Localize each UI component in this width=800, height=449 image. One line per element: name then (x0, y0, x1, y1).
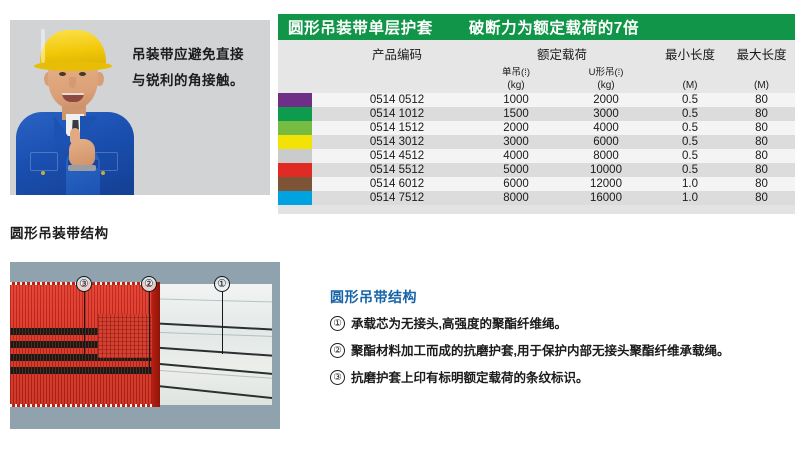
table-header-row-main: 产品编码 额定载荷 最小长度 最大长度 (278, 43, 795, 63)
table-banner: 圆形吊装带单层护套 破断力为额定载荷的7倍 (278, 14, 795, 40)
header-unit-max-m: (M) (728, 80, 795, 91)
cell-min-length: 1.0 (652, 192, 728, 204)
table-row: 0514 1512200040000.580 (278, 121, 795, 135)
cell-product-code: 0514 6012 (322, 178, 472, 190)
pocket-left-shape (30, 152, 58, 171)
cell-min-length: 0.5 (652, 108, 728, 120)
callout-marker-2: ② (141, 276, 157, 292)
eye-right-shape (79, 72, 86, 76)
hard-hat-shape (40, 30, 106, 68)
table-row: 0514 75128000160001.080 (278, 191, 795, 205)
cell-u-sling-load: 12000 (560, 178, 652, 190)
cell-single-sling-load: 8000 (472, 192, 560, 204)
sling-structure-photo: ③ ② ① (10, 262, 280, 429)
button-right-shape (101, 171, 105, 175)
description-item-text: 聚酯材料加工而成的抗磨护套,用于保护内部无接头聚酯纤维承载绳。 (351, 343, 729, 360)
table-header: 产品编码 额定载荷 最小长度 最大长度 单吊(⁞) U形吊(⁞) (kg) (k… (278, 40, 795, 93)
cell-u-sling-load: 4000 (560, 122, 652, 134)
row-swatch-cell (278, 121, 322, 135)
sleeve-hem-bottom-shape (10, 404, 160, 407)
callout-marker-3: ③ (76, 276, 92, 292)
row-swatch-cell (278, 149, 322, 163)
table-header-row-units: (kg) (kg) (M) (M) (278, 78, 795, 93)
header-single-sling: 单吊(⁞) (472, 64, 560, 78)
color-swatch (278, 177, 312, 191)
cell-min-length: 0.5 (652, 150, 728, 162)
row-swatch-cell (278, 191, 322, 205)
description-item-text: 抗磨护套上印有标明额定载荷的条纹标识。 (351, 370, 589, 387)
cell-single-sling-load: 6000 (472, 178, 560, 190)
cell-min-length: 0.5 (652, 164, 728, 176)
description-title: 圆形吊带结构 (330, 287, 795, 307)
description-item-number: ③ (330, 370, 345, 385)
cell-u-sling-load: 10000 (560, 164, 652, 176)
photo-caption-line-2: 与锐利的角接触。 (132, 68, 264, 94)
worker-photo-panel: 吊装带应避免直接 与锐利的角接触。 (10, 20, 270, 195)
header-min-length: 最小长度 (652, 44, 728, 63)
header-rated-load: 额定载荷 (472, 44, 652, 63)
cell-product-code: 0514 5512 (322, 164, 472, 176)
callout-2-label: ② (141, 276, 157, 292)
description-item: ②聚酯材料加工而成的抗磨护套,用于保护内部无接头聚酯纤维承载绳。 (330, 343, 795, 360)
cell-product-code: 0514 3012 (322, 136, 472, 148)
table-row: 0514 3012300060000.580 (278, 135, 795, 149)
row-swatch-cell (278, 135, 322, 149)
cell-max-length: 80 (728, 192, 795, 204)
cell-max-length: 80 (728, 136, 795, 148)
table-banner-left: 圆形吊装带单层护套 (288, 16, 433, 38)
table-row: 0514 4512400080000.580 (278, 149, 795, 163)
cell-max-length: 80 (728, 178, 795, 190)
cell-product-code: 0514 4512 (322, 150, 472, 162)
cell-min-length: 1.0 (652, 178, 728, 190)
color-swatch (278, 121, 312, 135)
color-swatch (278, 135, 312, 149)
fiber-soft-1 (160, 298, 272, 303)
cell-max-length: 80 (728, 122, 795, 134)
row-swatch-cell (278, 163, 322, 177)
cell-max-length: 80 (728, 164, 795, 176)
row-swatch-cell (278, 177, 322, 191)
cell-product-code: 0514 7512 (322, 192, 472, 204)
color-swatch (278, 93, 312, 107)
nose-shape (69, 77, 76, 88)
fiber-line-1 (160, 322, 272, 331)
cell-single-sling-load: 1500 (472, 108, 560, 120)
fiber-soft-2 (160, 332, 272, 338)
table-row: 0514 60126000120001.080 (278, 177, 795, 191)
cell-product-code: 0514 1512 (322, 122, 472, 134)
callout-marker-1: ① (214, 276, 230, 292)
callout-3-leader-line (84, 292, 85, 360)
cell-product-code: 0514 1012 (322, 108, 472, 120)
cell-u-sling-load: 8000 (560, 150, 652, 162)
description-list: ①承载芯为无接头,高强度的聚酯纤维绳。②聚酯材料加工而成的抗磨护套,用于保护内部… (330, 316, 795, 387)
cell-min-length: 0.5 (652, 94, 728, 106)
cell-min-length: 0.5 (652, 136, 728, 148)
header-u-sling: U形吊(⁞) (560, 64, 652, 78)
button-left-shape (41, 171, 45, 175)
cell-single-sling-load: 5000 (472, 164, 560, 176)
cell-u-sling-load: 3000 (560, 108, 652, 120)
row-swatch-cell (278, 93, 322, 107)
color-swatch (278, 191, 312, 205)
cell-u-sling-load: 6000 (560, 136, 652, 148)
fiber-line-4 (160, 384, 272, 400)
spec-table: 圆形吊装带单层护套 破断力为额定载荷的7倍 产品编码 额定载荷 最小长度 最大长… (278, 14, 795, 214)
cell-single-sling-load: 3000 (472, 136, 560, 148)
section-heading: 圆形吊装带结构 (10, 222, 109, 242)
color-swatch (278, 163, 312, 177)
cell-max-length: 80 (728, 108, 795, 120)
thumb-up-shape (70, 128, 80, 145)
color-swatch (278, 107, 312, 121)
cell-single-sling-load: 1000 (472, 94, 560, 106)
table-row: 0514 0512100020000.580 (278, 93, 795, 107)
cell-min-length: 0.5 (652, 122, 728, 134)
header-unit-min-m: (M) (652, 80, 728, 91)
table-header-row-sub: 单吊(⁞) U形吊(⁞) (278, 63, 795, 78)
cell-max-length: 80 (728, 94, 795, 106)
eye-left-shape (59, 72, 66, 76)
fiber-line-2 (160, 346, 272, 357)
description-item-text: 承载芯为无接头,高强度的聚酯纤维绳。 (351, 316, 567, 333)
description-item: ③抗磨护套上印有标明额定载荷的条纹标识。 (330, 370, 795, 387)
table-banner-right: 破断力为额定载荷的7倍 (469, 16, 639, 38)
table-row: 0514 1012150030000.580 (278, 107, 795, 121)
header-max-length: 最大长度 (728, 44, 795, 63)
callout-3-label: ③ (76, 276, 92, 292)
load-stripe-4 (10, 367, 160, 374)
photo-caption-line-1: 吊装带应避免直接 (132, 42, 264, 68)
header-product-code: 产品编码 (322, 44, 472, 63)
callout-2-leader-line (149, 292, 150, 370)
cell-single-sling-load: 4000 (472, 150, 560, 162)
sleeve-edge-shape (152, 282, 160, 407)
callout-1-label: ① (214, 276, 230, 292)
structure-description: 圆形吊带结构 ①承载芯为无接头,高强度的聚酯纤维绳。②聚酯材料加工而成的抗磨护套… (330, 287, 795, 397)
polyester-core-fibers (160, 284, 272, 405)
description-item-number: ① (330, 316, 345, 331)
callout-1-leader-line (222, 292, 223, 354)
cell-u-sling-load: 2000 (560, 94, 652, 106)
cell-max-length: 80 (728, 150, 795, 162)
header-unit-u-kg: (kg) (560, 80, 652, 91)
row-swatch-cell (278, 107, 322, 121)
photo-caption: 吊装带应避免直接 与锐利的角接触。 (132, 42, 264, 94)
table-body: 0514 0512100020000.5800514 1012150030000… (278, 93, 795, 205)
table-footer-strip (278, 205, 795, 214)
worker-photo (10, 20, 142, 195)
header-unit-single-kg: (kg) (472, 80, 560, 91)
description-item: ①承载芯为无接头,高强度的聚酯纤维绳。 (330, 316, 795, 333)
cell-product-code: 0514 0512 (322, 94, 472, 106)
wristwatch-shape (68, 165, 96, 171)
table-row: 0514 55125000100000.580 (278, 163, 795, 177)
description-item-number: ② (330, 343, 345, 358)
hard-hat-ridge-shape (41, 29, 45, 63)
color-swatch (278, 149, 312, 163)
cell-single-sling-load: 2000 (472, 122, 560, 134)
sleeve-weave-patch-shape (98, 314, 154, 358)
cell-u-sling-load: 16000 (560, 192, 652, 204)
